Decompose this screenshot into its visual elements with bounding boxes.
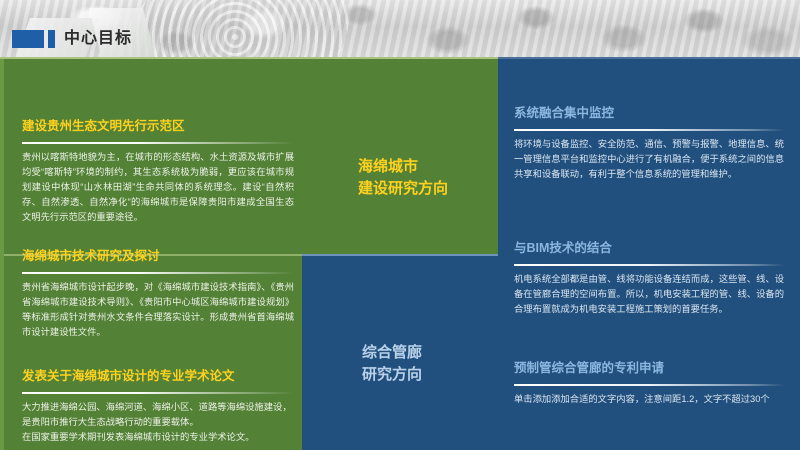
left-section-1-divider <box>22 142 294 144</box>
left-section-3-divider <box>22 392 294 394</box>
right-section-3[interactable]: 预制管综合管廊的专利申请 单击添加添加合适的文字内容，注意间距1.2，文字不超过… <box>514 360 784 407</box>
right-section-1-body: 将环境与设备监控、安全防范、通信、预警与报警、地理信息、统一管理信息平台和监控中… <box>514 137 784 182</box>
right-section-1[interactable]: 系统融合集中监控 将环境与设备监控、安全防范、通信、预警与报警、地理信息、统一管… <box>514 105 784 182</box>
right-section-3-body: 单击添加添加合适的文字内容，注意间距1.2，文字不超过30个 <box>514 392 784 407</box>
green-left-edge-strip <box>0 59 4 450</box>
right-section-1-divider <box>514 129 784 131</box>
left-section-2-divider <box>22 272 294 274</box>
header-marker-narrow <box>48 30 55 48</box>
right-section-2-divider <box>514 264 784 266</box>
page-title: 中心目标 <box>64 28 132 50</box>
left-section-1-body: 贵州以喀斯特地貌为主，在城市的形态结构、水土资源及城市扩展均受“喀斯特”环境的制… <box>22 150 294 225</box>
right-section-2[interactable]: 与BIM技术的结合 机电系统全部都是由管、线将功能设备连结而成，这些管、线、设备… <box>514 240 784 317</box>
right-section-2-title: 与BIM技术的结合 <box>514 240 784 257</box>
label-utility-tunnel-direction: 综合管廊 研究方向 <box>362 342 422 386</box>
left-section-3-body: 大力推进海绵公园、海绵河道、海绵小区、道路等海绵设施建设，是贵阳市推行大生态战略… <box>22 400 294 445</box>
left-section-2-body: 贵州省海绵城市设计起步晚，对《海绵城市建设技术指南》、《贵州省海绵城市建设技术导… <box>22 280 294 340</box>
slide-canvas: 中心目标 海绵城市 建设研究方向 综合管廊 研究方向 建设贵州生态文明先行示范区… <box>0 0 800 450</box>
left-section-3[interactable]: 发表关于海绵城市设计的专业学术论文 大力推进海绵公园、海绵河道、海绵小区、道路等… <box>22 368 294 445</box>
left-section-2[interactable]: 海绵城市技术研究及探讨 贵州省海绵城市设计起步晚，对《海绵城市建设技术指南》、《… <box>22 248 294 340</box>
left-section-1-title: 建设贵州生态文明先行示范区 <box>22 118 294 135</box>
right-section-3-divider <box>514 384 784 386</box>
left-section-1[interactable]: 建设贵州生态文明先行示范区 贵州以喀斯特地貌为主，在城市的形态结构、水土资源及城… <box>22 118 294 225</box>
header-marker-wide <box>12 30 44 48</box>
left-section-2-title: 海绵城市技术研究及探讨 <box>22 248 294 265</box>
left-section-3-title: 发表关于海绵城市设计的专业学术论文 <box>22 368 294 385</box>
right-section-1-title: 系统融合集中监控 <box>514 105 784 122</box>
right-section-2-body: 机电系统全部都是由管、线将功能设备连结而成，这些管、线、设备在管廊合理的空间布置… <box>514 272 784 317</box>
right-section-3-title: 预制管综合管廊的专利申请 <box>514 360 784 377</box>
label-sponge-city-direction: 海绵城市 建设研究方向 <box>358 156 448 200</box>
